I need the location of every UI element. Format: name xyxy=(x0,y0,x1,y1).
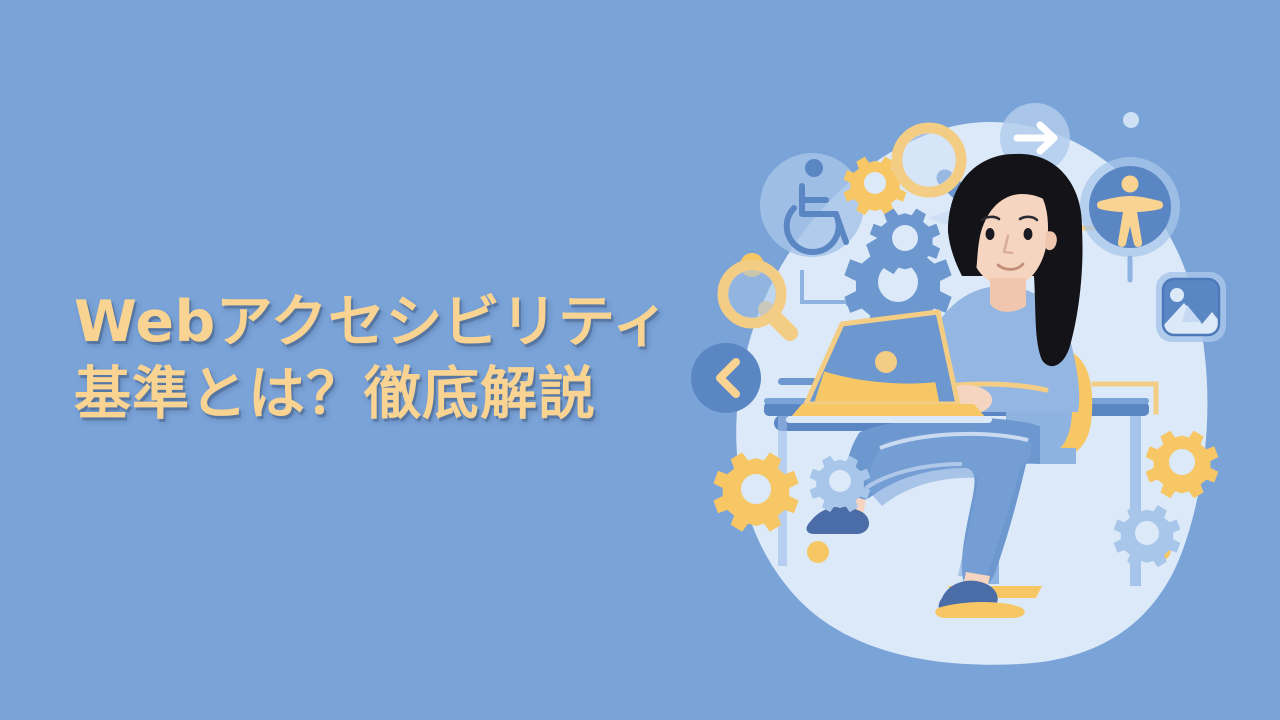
hero-illustration xyxy=(690,60,1280,680)
image-placeholder-icon xyxy=(1156,272,1226,342)
wheelchair-accessibility-icon xyxy=(760,153,864,257)
magnifier-icon-left xyxy=(723,265,790,333)
chevron-left-icon xyxy=(691,343,761,413)
title-line-1: Webアクセシビリティ xyxy=(74,286,694,358)
page-title: Webアクセシビリティ 基準とは？徹底解説 xyxy=(74,286,694,430)
title-line-2: 基準とは？徹底解説 xyxy=(74,358,694,430)
dot-yellow-bottom-left xyxy=(807,541,829,563)
dot-pale-top xyxy=(1123,112,1139,128)
hero-banner: Webアクセシビリティ 基準とは？徹底解説 xyxy=(0,0,1280,720)
